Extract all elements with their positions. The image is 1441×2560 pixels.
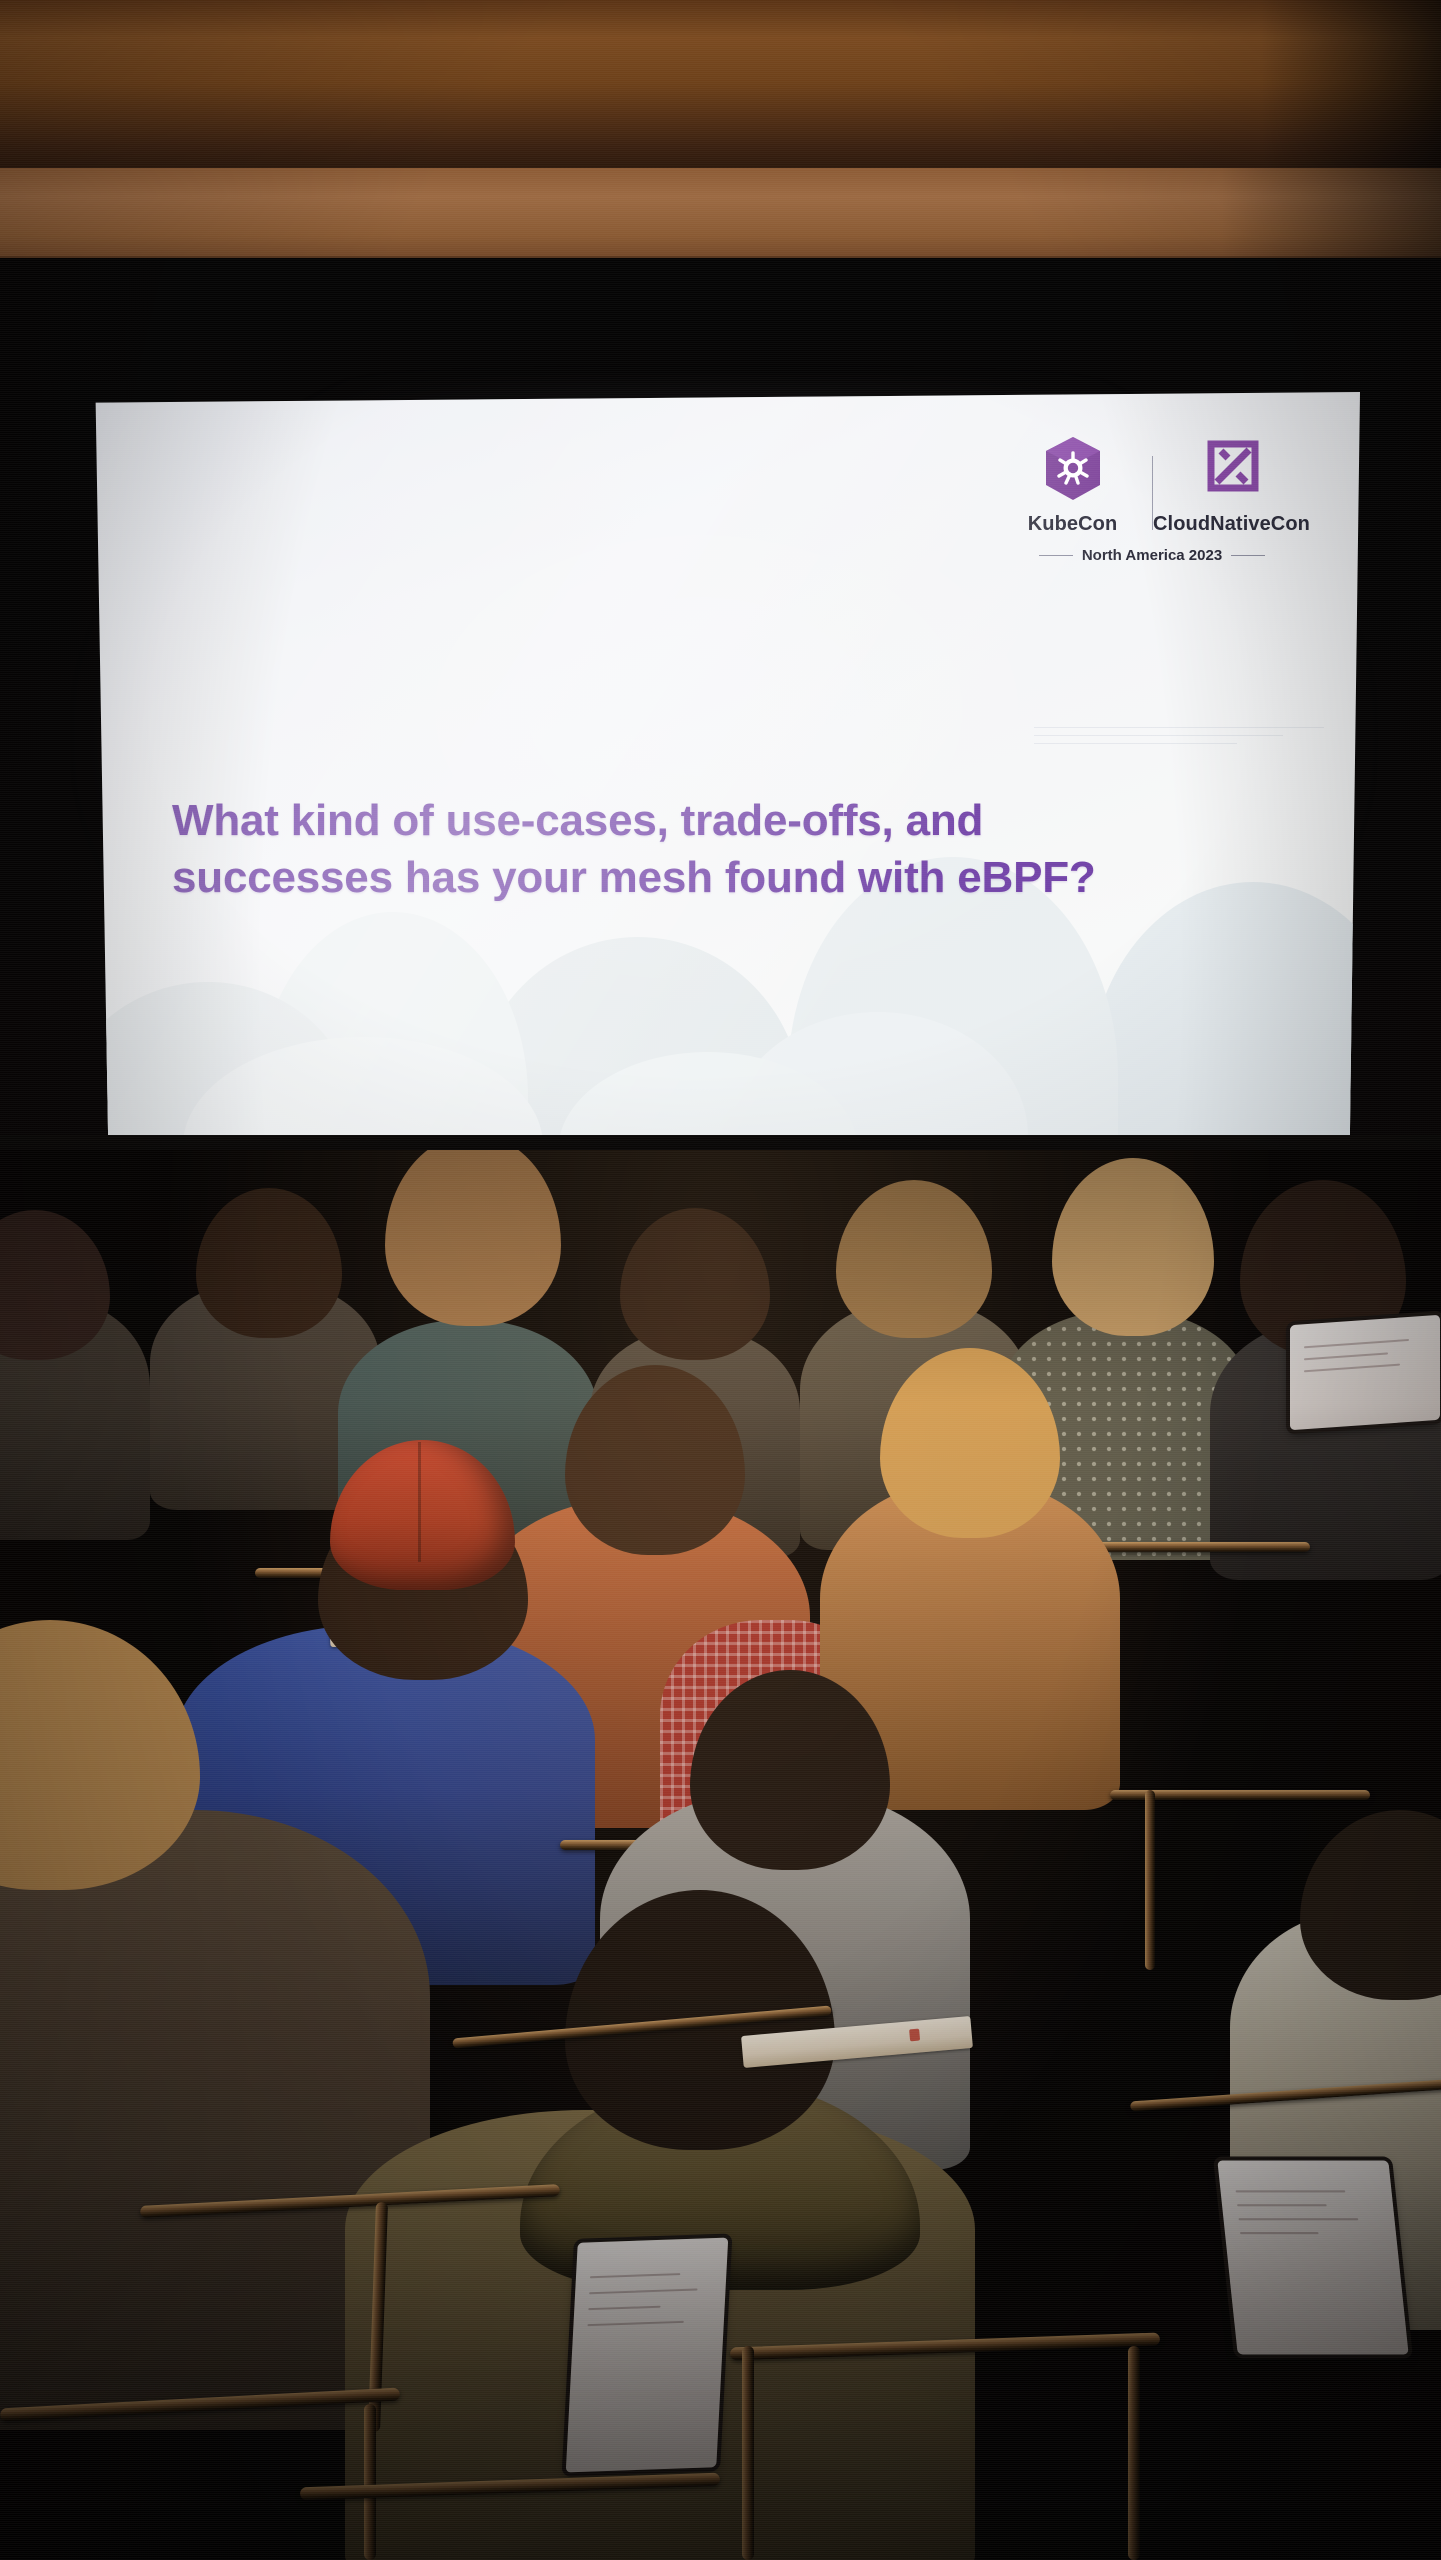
kubecon-label: KubeCon [1028,513,1118,536]
projection-screen: KubeCon CloudNativeCon [88,392,1360,1157]
kubernetes-helm-icon [1042,434,1104,504]
wall-band [0,168,1441,264]
audience [0,1150,1441,2560]
kubecon-cloudnativecon-logo: KubeCon CloudNativeCon [1002,434,1302,564]
faint-texture-lines [1034,727,1324,767]
laptop-screen [1290,1315,1440,1430]
laptop-screen [1217,2161,1408,2355]
chair-leg [1128,2346,1140,2560]
logo-rule-right [1231,555,1265,556]
chair-leg [742,2346,754,2560]
cap-seam [418,1442,421,1562]
slide-title: What kind of use-cases, trade-offs, and … [172,792,1192,906]
laptop-screen [566,2238,729,2473]
chair-leg [364,2404,376,2560]
edition-label: North America 2023 [1082,547,1222,564]
chair-leg [1145,1790,1155,1970]
cloudnativecon-label: CloudNativeCon [1153,513,1310,536]
conference-room-photo: KubeCon CloudNativeCon [0,0,1441,2560]
presentation-slide: KubeCon CloudNativeCon [88,392,1360,1152]
cloudnativecon-square-icon [1201,434,1263,504]
logo-rule-left [1039,555,1073,556]
ceiling [0,0,1441,172]
person-head [385,1150,561,1326]
